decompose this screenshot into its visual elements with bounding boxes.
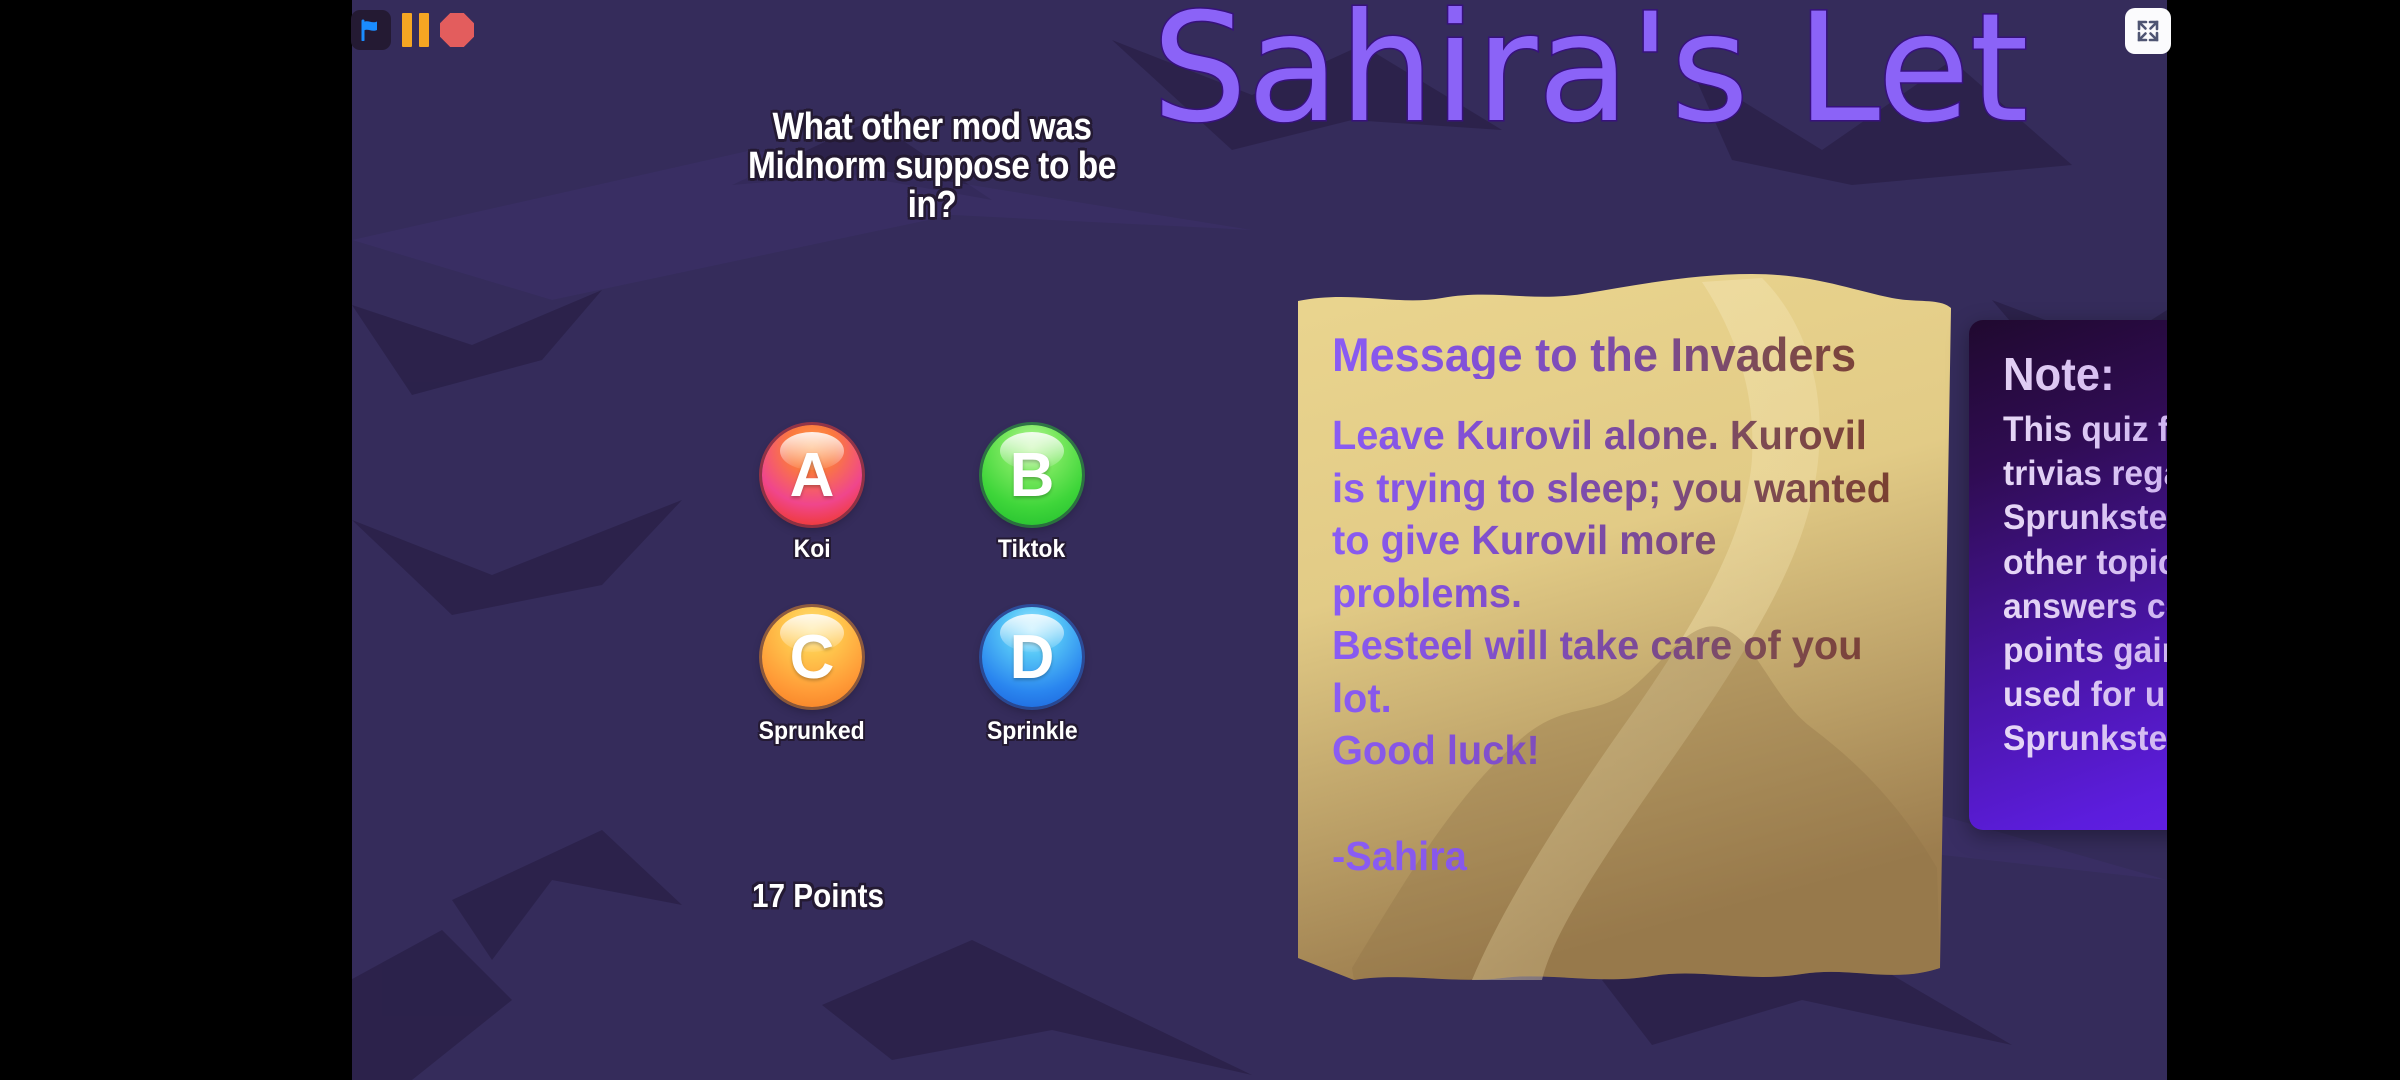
question-text: What other mod was Midnorm suppose to be… [747,108,1117,224]
letter-line-3: Good luck! [1332,724,1895,776]
answer-label-d: Sprinkle [987,717,1078,746]
letter-line-1: Leave Kurovil alone. Kurovil is trying t… [1332,409,1895,619]
answer-letter: B [1010,440,1055,511]
pause-bar-right [419,13,429,47]
stop-button[interactable] [440,13,474,47]
answer-label-a: Koi [793,535,830,564]
answer-option-b[interactable]: B Tiktok [957,425,1107,564]
letter-heading: Message to the Invaders [1332,330,1889,379]
note-panel: Note: This quiz focuses on trivias regar… [1969,320,2167,830]
note-body: This quiz focuses on trivias regarding t… [2003,408,2167,761]
answer-row: A Koi B Tiktok [737,425,1137,564]
note-content: Note: This quiz focuses on trivias regar… [2003,350,2167,761]
answer-options: A Koi B Tiktok C [737,425,1137,789]
note-title: Note: [2003,350,2167,398]
answer-option-c[interactable]: C Sprunked [737,607,887,746]
answer-letter: D [1010,622,1055,693]
pause-button[interactable] [400,13,432,47]
answer-label-c: Sprunked [759,717,865,746]
points-counter: 17 Points [752,877,884,915]
answer-row: C Sprunked D Sprinkle [737,607,1137,746]
fullscreen-button[interactable] [2125,8,2171,54]
game-stage: Sahira's Let What other mod was Midnorm … [352,0,2167,1080]
answer-letter: C [790,622,835,693]
answer-letter: A [790,440,835,511]
player-toolbar [0,0,2400,60]
answer-orb-c[interactable]: C [762,607,862,707]
green-flag-button[interactable] [351,10,391,50]
letter-content: Message to the Invaders Leave Kurovil al… [1332,330,1912,880]
letter-panel: Message to the Invaders Leave Kurovil al… [1292,268,1957,998]
answer-option-d[interactable]: D Sprinkle [957,607,1107,746]
screen: Sahira's Let What other mod was Midnorm … [0,0,2400,1080]
pause-bar-left [402,13,412,47]
answer-label-b: Tiktok [998,535,1065,564]
letter-line-2: Besteel will take care of you lot. [1332,619,1895,724]
answer-orb-a[interactable]: A [762,425,862,525]
answer-orb-d[interactable]: D [982,607,1082,707]
answer-option-a[interactable]: A Koi [737,425,887,564]
letter-signature: -Sahira [1332,833,1895,880]
answer-orb-b[interactable]: B [982,425,1082,525]
